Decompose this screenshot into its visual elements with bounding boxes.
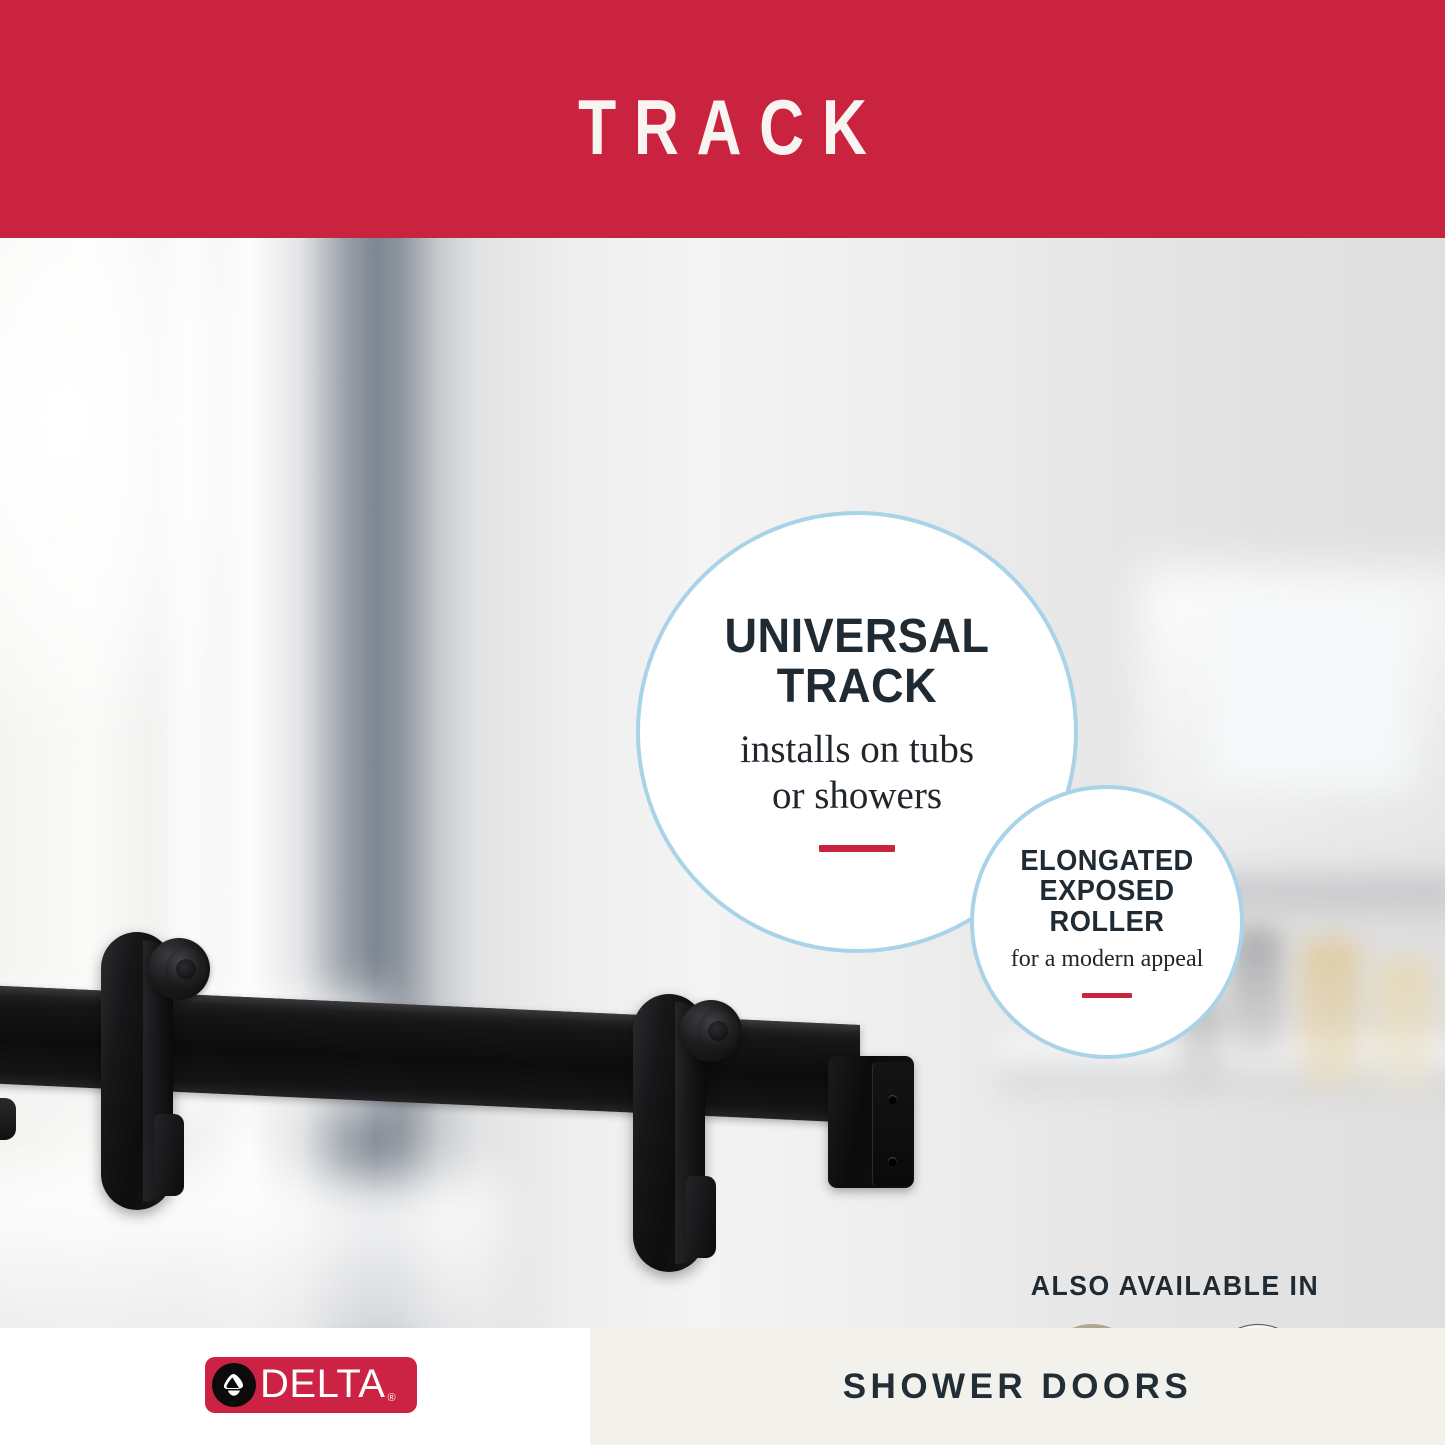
- callout-accent-dash: [819, 845, 895, 852]
- callout-subtext-line1: installs on tubs: [740, 727, 974, 773]
- track-left-stub: [0, 1098, 16, 1140]
- page-title: TRACK: [145, 88, 1301, 166]
- callout-roller-heading: ELONGATED EXPOSED ROLLER: [982, 846, 1232, 937]
- roller-bracket-hook: [154, 1114, 184, 1196]
- registered-trademark-icon: ®: [388, 1392, 396, 1404]
- product-marketing-image: TRACK: [0, 0, 1445, 1445]
- mounting-screw-hole: [888, 1157, 897, 1166]
- callout-subtext-line2: or showers: [740, 773, 974, 819]
- callout-heading-line1: ELONGATED: [982, 846, 1232, 876]
- callout-subtext-line1: for a modern appeal: [1011, 945, 1204, 973]
- callout-heading-line1: UNIVERSAL: [725, 612, 990, 662]
- callout-roller-subtext: for a modern appeal: [1011, 945, 1204, 973]
- product-photo-stage: MATTE BLACK ALSO AVAILABLE IN BRUSHED NI…: [0, 238, 1445, 1328]
- delta-brand-logo[interactable]: DELTA ®: [205, 1357, 417, 1413]
- roller-wheel-hub: [708, 1021, 728, 1041]
- also-available-title: ALSO AVAILABLE IN: [1018, 1270, 1332, 1302]
- callout-heading-line2: EXPOSED ROLLER: [982, 876, 1232, 937]
- roller-bracket-hook: [686, 1176, 716, 1258]
- track-end-bracket-face: [872, 1062, 913, 1186]
- mounting-screw-hole: [888, 1095, 897, 1104]
- footer-category-label: SHOWER DOORS: [590, 1328, 1445, 1445]
- also-available-section: ALSO AVAILABLE IN BRUSHED NICKEL CHROME: [1010, 1270, 1340, 1328]
- callout-universal-track-heading: UNIVERSAL TRACK: [725, 612, 990, 713]
- callout-universal-track-subtext: installs on tubs or showers: [740, 727, 974, 819]
- delta-triangle-icon: [212, 1363, 256, 1407]
- header-band: TRACK: [0, 0, 1445, 238]
- callout-heading-line2: TRACK: [725, 662, 990, 712]
- callout-elongated-exposed-roller: ELONGATED EXPOSED ROLLER for a modern ap…: [970, 785, 1244, 1059]
- roller-wheel-hub: [176, 959, 196, 979]
- callout-accent-dash: [1082, 993, 1132, 998]
- delta-wordmark: DELTA: [260, 1364, 386, 1407]
